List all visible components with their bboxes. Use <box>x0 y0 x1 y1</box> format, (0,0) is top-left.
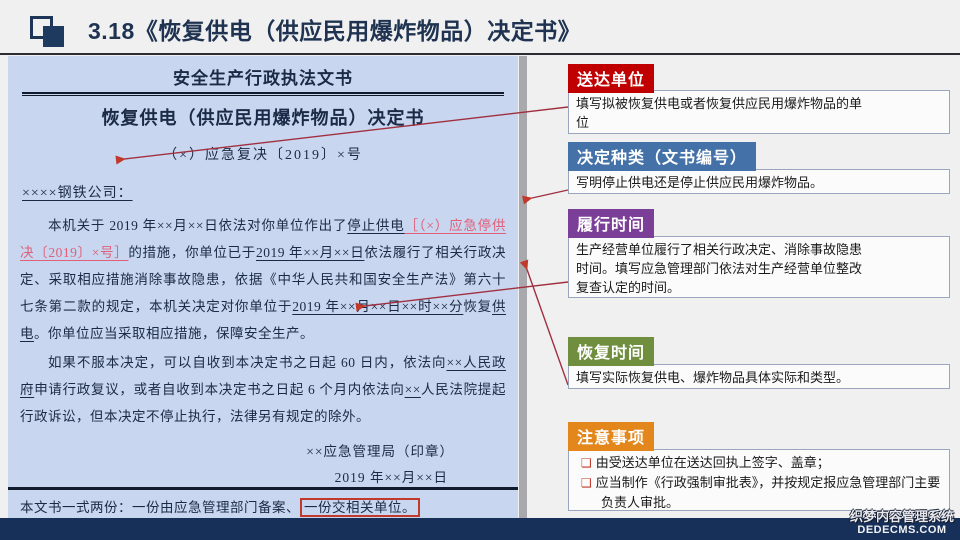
overlapping-squares-logo-icon <box>30 16 68 46</box>
document-addressee-row: ××××钢铁公司： <box>20 182 506 212</box>
annotation-2-line-2: 复查认定的时间。 <box>576 278 943 297</box>
annotation-tag-0: 送达单位 <box>568 64 654 93</box>
annotation-4-bullet-0: ❑由受送达单位在送达回执上签字、盖章； <box>581 453 943 473</box>
watermark-line-2: DEDECMS.COM <box>850 524 954 536</box>
para1-part-d: 的措施，你单位已于 <box>128 245 256 260</box>
para2-part-c: 申请行政复议，或者自收到本决定书之日起 6 个月内依法向 <box>34 382 404 397</box>
document-signature-date: 2019 年××月××日 <box>20 466 448 486</box>
logo-square-filled <box>43 26 64 47</box>
document-paragraph-2: 如果不服本决定，可以自收到本决定书之日起 60 日内，依法向××人民政府申请行政… <box>20 349 506 430</box>
annotation-tag-3: 恢复时间 <box>568 337 654 366</box>
annotation-box-3: 填写实际恢复供电、爆炸物品具体实际和类型。 <box>568 364 950 389</box>
para2-part-a: 如果不服本决定，可以自收到本决定书之日起 60 日内，依法向 <box>48 355 446 370</box>
connector-line-2 <box>523 190 568 200</box>
annotation-0-line-0: 填写拟被恢复供电或者恢复供应民用爆炸物品的单 <box>576 94 943 113</box>
annotation-2-line-0: 生产经营单位履行了相关行政决定、消除事故隐患 <box>576 240 943 259</box>
annotation-tag-2: 履行时间 <box>568 209 654 238</box>
annotation-box-4: ❑由受送达单位在送达回执上签字、盖章； ❑应当制作《行政强制审批表》，并按规定报… <box>568 449 950 511</box>
para2-part-d: ×× <box>405 382 421 397</box>
para1-part-b: 停止供电 <box>347 218 404 233</box>
document-footer-note: 本文书一式两份：一份由应急管理部门备案、一份交相关单位。 <box>20 496 420 516</box>
document-addressee: ××××钢铁公司： <box>22 182 133 202</box>
document-paragraph-1: 本机关于 2019 年××月××日依法对你单位作出了停止供电［（×）应急停供决〔… <box>20 212 506 347</box>
annotation-0-line-1: 位 <box>576 113 943 132</box>
checkbox-icon: ❑ <box>581 476 592 490</box>
annotation-2-line-1: 时间。填写应急管理部门依法对生产经营单位整改 <box>576 259 943 278</box>
document-heading-top: 安全生产行政执法文书 <box>20 64 506 89</box>
para1-part-h: 恢复 <box>463 299 492 314</box>
watermark-line-1: 织梦内容管理系统 <box>850 506 954 525</box>
legal-document-preview[interactable]: 安全生产行政执法文书 恢复供电（供应民用爆炸物品）决定书 （×）应急复决〔201… <box>8 56 518 518</box>
para1-part-g: 2019 年××月××日××时××分 <box>292 299 463 314</box>
para1-part-j: 。你单位应当采取相应措施，保障安全生产。 <box>34 326 314 341</box>
document-sheet: 安全生产行政执法文书 恢复供电（供应民用爆炸物品）决定书 （×）应急复决〔201… <box>8 56 518 518</box>
annotation-box-0: 填写拟被恢复供电或者恢复供应民用爆炸物品的单 位 <box>568 90 950 134</box>
annotation-tag-1: 决定种类（文书编号） <box>568 142 756 171</box>
document-number: （×）应急复决〔2019〕×号 <box>20 144 506 164</box>
footer-note-highlight: 一份交相关单位。 <box>300 498 420 517</box>
footer-note-part-a: 本文书一式两份：一份由应急管理部门备案、 <box>20 500 300 515</box>
annotation-4-bullet-0-text: 由受送达单位在送达回执上签字、盖章； <box>596 455 830 470</box>
document-heading-main: 恢复供电（供应民用爆炸物品）决定书 <box>20 104 506 130</box>
checkbox-icon: ❑ <box>581 456 592 470</box>
para1-part-a: 本机关于 2019 年××月××日依法对你单位作出了 <box>48 218 347 233</box>
annotation-box-1: 写明停止供电还是停止供应民用爆炸物品。 <box>568 169 950 194</box>
page-header: 3.18《恢复供电（供应民用爆炸物品）决定书》 <box>0 0 960 54</box>
page-title: 3.18《恢复供电（供应民用爆炸物品）决定书》 <box>88 12 581 46</box>
connector-line-4 <box>524 261 568 385</box>
document-scrollbar[interactable] <box>519 56 527 518</box>
document-signature-org: ××应急管理局（印章） <box>20 440 454 460</box>
annotation-3-line-0: 填写实际恢复供电、爆炸物品具体实际和类型。 <box>576 368 943 387</box>
header-divider <box>0 53 960 55</box>
annotation-4-bullet-1-text: 应当制作《行政强制审批表》，并按规定报应急管理部门主要负责人审批。 <box>596 475 941 510</box>
annotation-tag-4: 注意事项 <box>568 422 654 451</box>
document-footer-divider <box>8 487 518 490</box>
footer-bar <box>0 518 960 540</box>
annotation-1-line-0: 写明停止供电还是停止供应民用爆炸物品。 <box>576 173 943 192</box>
para1-part-e: 2019 年××月××日 <box>256 245 364 260</box>
document-heading-divider <box>22 92 504 96</box>
watermark: 织梦内容管理系统 DEDECMS.COM <box>850 506 954 536</box>
annotation-box-2: 生产经营单位履行了相关行政决定、消除事故隐患 时间。填写应急管理部门依法对生产经… <box>568 236 950 298</box>
